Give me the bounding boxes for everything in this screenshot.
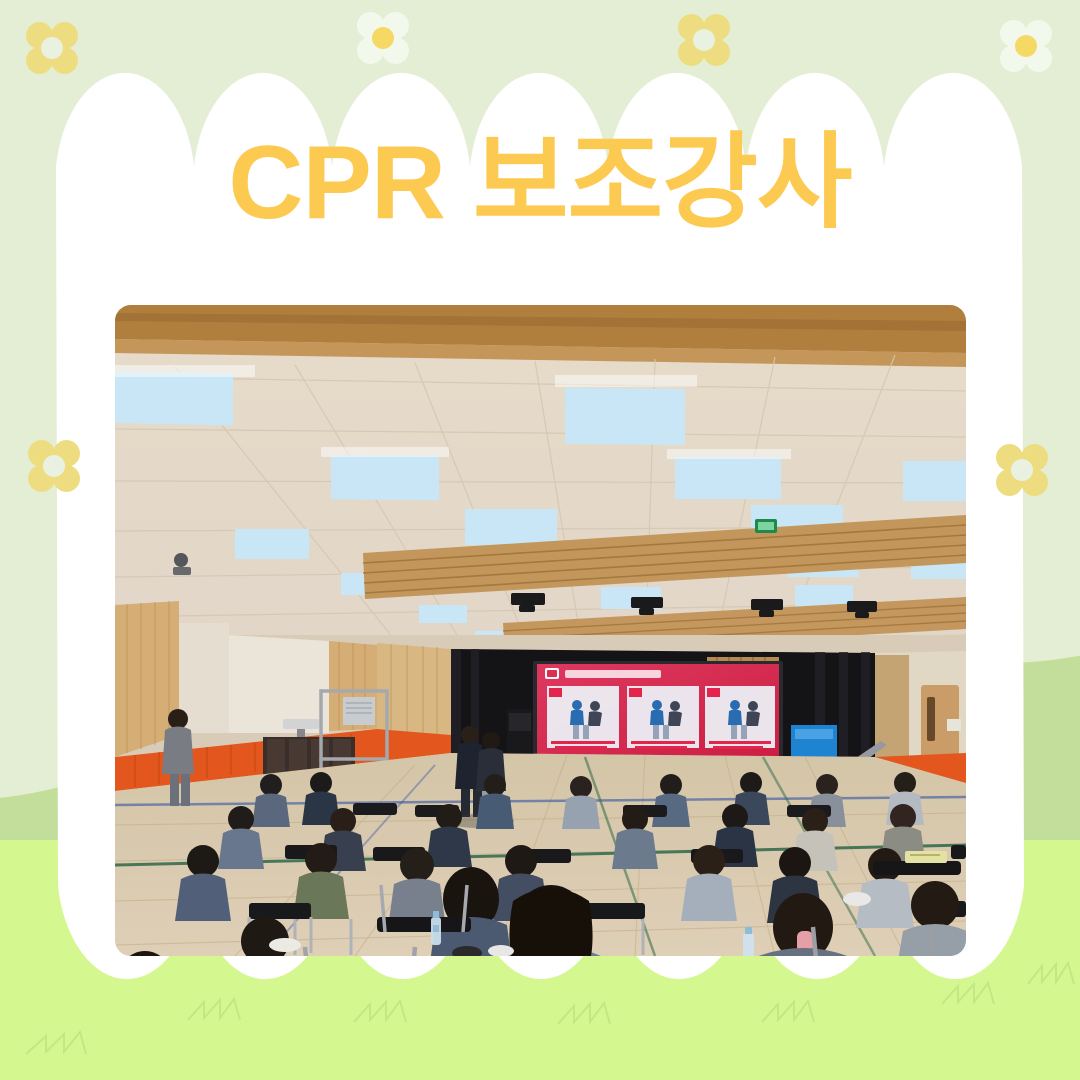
flower-top-left: [26, 22, 78, 74]
page-title: CPR 보조강사: [0, 128, 1080, 238]
grass-doodle-1: [24, 1024, 104, 1058]
poster-canvas: CPR 보조강사: [0, 0, 1080, 1080]
flower-top-center-right: [1000, 20, 1052, 72]
grass-doodle-7: [1026, 956, 1080, 988]
flower-top-center: [678, 14, 730, 66]
flower-top-center-left: [357, 12, 409, 64]
flower-mid-left: [28, 440, 80, 492]
flower-mid-right: [996, 444, 1048, 496]
event-photo: [115, 305, 966, 956]
